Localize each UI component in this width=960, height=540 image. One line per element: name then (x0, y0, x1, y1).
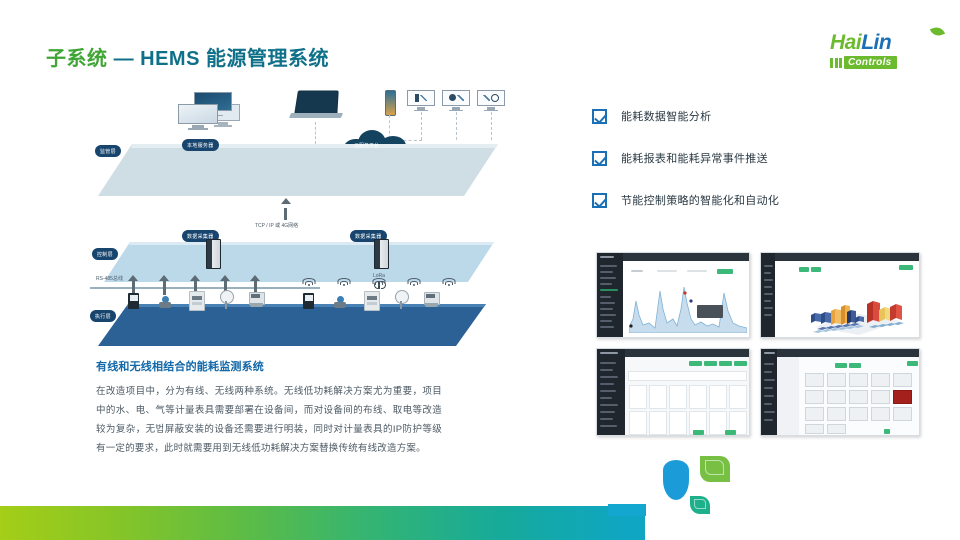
connector-dashed (456, 112, 457, 140)
checkbox-checked-icon[interactable] (592, 109, 607, 124)
wifi-icon (408, 278, 419, 286)
pressure-gauge-icon (220, 290, 232, 309)
layer-label-monitoring: 监管层 (95, 145, 121, 157)
logo-subrow: Controls (830, 56, 942, 69)
decor-shape-blue (663, 460, 689, 500)
laptop-icon (290, 90, 340, 122)
water-meter-icon (334, 296, 346, 309)
electric-meter-icon (128, 293, 139, 309)
layer-label-execution: 执行层 (90, 310, 116, 322)
data-collector-device (206, 239, 221, 269)
logo-controls-text: Controls (844, 56, 897, 69)
screenshot-gallery (596, 252, 920, 438)
architecture-diagram: 云服务平台 本地服务器 监管层 TCP / IP 或 4G网络 数据采集器 数据… (90, 82, 520, 342)
page-title-accent: 子系统 (46, 48, 108, 70)
layer-plane-execution (98, 304, 486, 351)
checklist-item-label: 能耗数据智能分析 (621, 108, 711, 124)
logo-lin-text: Lin (861, 31, 891, 54)
electric-meter-icon (303, 293, 314, 309)
wireless-label: LoRa (373, 273, 385, 279)
gas-meter-icon (364, 291, 380, 311)
logo-hai-text: Hai (830, 31, 861, 54)
slide-root: 子系统 — HEMS 能源管理系统 HaiLin Controls (0, 0, 960, 540)
checkbox-checked-icon[interactable] (592, 151, 607, 166)
checklist-item[interactable]: 节能控制策略的智能化和自动化 (592, 192, 779, 208)
monitor-icon (407, 90, 435, 112)
screenshot-thumbnail[interactable] (596, 348, 750, 436)
wifi-icon (338, 278, 349, 286)
screenshot-thumbnail[interactable] (760, 252, 920, 338)
checkbox-checked-icon[interactable] (592, 193, 607, 208)
bars-icon (830, 58, 842, 68)
heat-meter-icon (249, 292, 264, 309)
checklist-item-label: 能耗报表和能耗异常事件推送 (621, 150, 768, 166)
gas-meter-icon (189, 291, 205, 311)
footer-gradient-bar (0, 506, 645, 540)
checklist-item[interactable]: 能耗报表和能耗异常事件推送 (592, 150, 779, 166)
cloud-platform-label: 云服务平台 (354, 142, 379, 149)
logo-wordmark: HaiLin (830, 32, 942, 53)
uplink-arrow-icon (281, 198, 291, 204)
checklist-item-label: 节能控制策略的智能化和自动化 (621, 192, 779, 208)
screenshot-thumbnail[interactable] (760, 348, 920, 436)
wifi-icon (373, 278, 384, 286)
body-paragraph: 在改造项目中，分为有线、无线两种系统。无线低功耗解决方案尤为重要，项目中的水、电… (96, 382, 442, 458)
body-heading: 有线和无线相结合的能耗监测系统 (96, 358, 264, 374)
uplink-label: TCP / IP 或 4G网络 (255, 222, 298, 229)
page-title: 子系统 — HEMS 能源管理系统 (46, 42, 329, 71)
wifi-icon (443, 278, 454, 286)
fieldbus-label: RS-485总线 (96, 275, 123, 282)
wifi-icon (303, 278, 314, 286)
brand-logo: HaiLin Controls (830, 32, 942, 72)
layer-plane-monitoring (98, 144, 498, 196)
water-meter-icon (159, 296, 171, 309)
monitor-icon (178, 104, 218, 132)
heat-meter-icon (424, 292, 439, 309)
fieldbus-line (90, 287, 320, 289)
decor-leaf-teal (690, 496, 710, 514)
layer-label-control: 控制层 (92, 248, 118, 260)
footer-notch (608, 504, 646, 516)
uplink-arrow-stem (284, 208, 287, 220)
connector-dashed (491, 112, 492, 140)
feature-checklist: 能耗数据智能分析 能耗报表和能耗异常事件推送 节能控制策略的智能化和自动化 (592, 108, 779, 234)
smartphone-icon (385, 90, 396, 116)
decor-leaf-green (700, 456, 730, 482)
leaf-icon (930, 25, 945, 38)
checklist-item[interactable]: 能耗数据智能分析 (592, 108, 779, 124)
pressure-gauge-icon (395, 290, 407, 309)
connector-dashed (421, 112, 422, 140)
local-server-label: 本地服务器 (182, 139, 219, 151)
connector-dashed (315, 122, 316, 144)
data-collector-device (374, 239, 389, 269)
monitor-icon (477, 90, 505, 112)
page-title-rest: — HEMS 能源管理系统 (114, 48, 329, 70)
screenshot-thumbnail[interactable] (596, 252, 750, 338)
monitor-icon (442, 90, 470, 112)
